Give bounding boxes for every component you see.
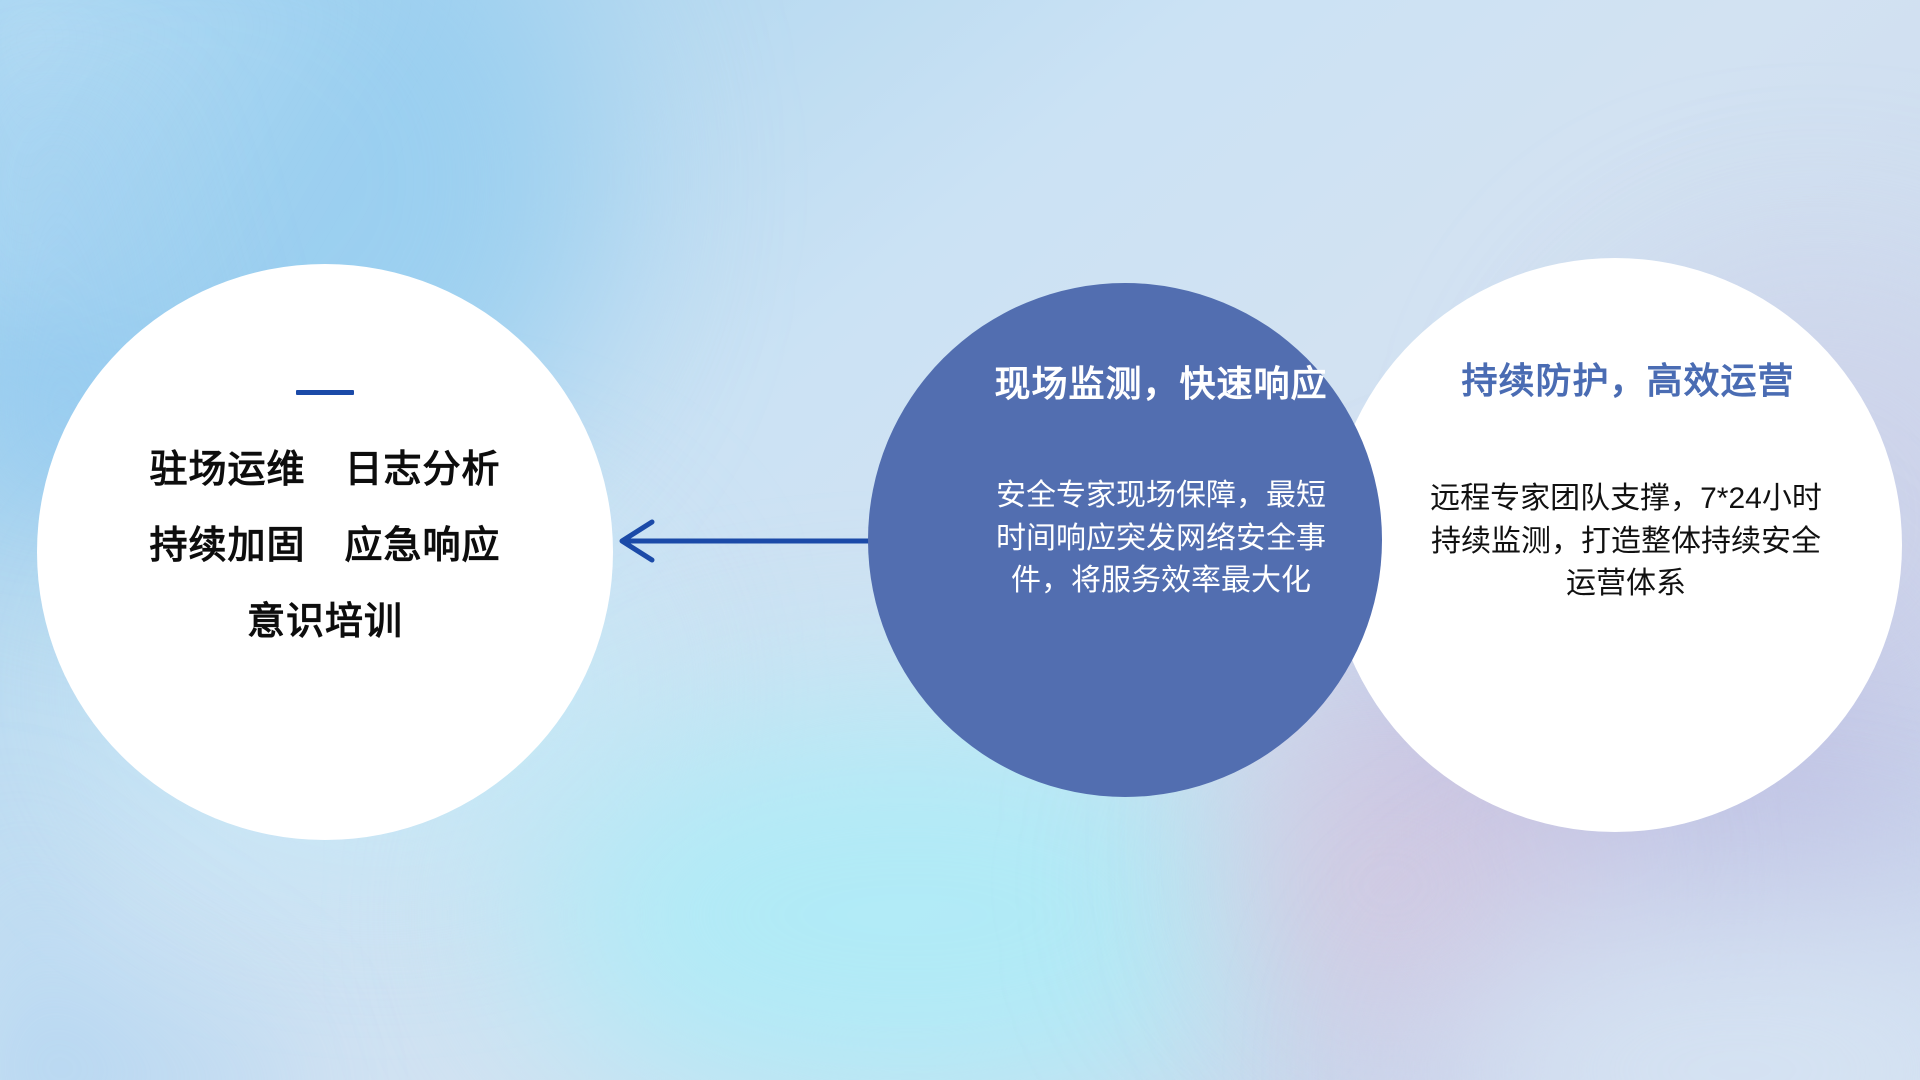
continuous-operations-body: 远程专家团队支撑，7*24小时持续监测，打造整体持续安全运营体系 [1421, 478, 1831, 606]
connector-arrow-left [600, 516, 900, 566]
capability-row-2: 持续加固 应急响应 [149, 527, 500, 565]
capabilities-circle[interactable]: 驻场运维 日志分析 持续加固 应急响应 意识培训 [37, 264, 613, 840]
capability-row-3: 意识培训 [247, 603, 403, 641]
onsite-response-title: 现场监测，快速响应 [994, 355, 1327, 407]
onsite-response-content: 现场监测，快速响应 安全专家现场保障，最短时间响应突发网络安全事件，将服务效率最… [868, 283, 1382, 797]
slide-canvas: 驻场运维 日志分析 持续加固 应急响应 意识培训 持续防护，高效运营 远程专家团… [0, 0, 1920, 1080]
continuous-operations-title: 持续防护，高效运营 [1461, 352, 1794, 404]
capabilities-content: 驻场运维 日志分析 持续加固 应急响应 意识培训 [37, 264, 613, 840]
capability-row-1: 驻场运维 日志分析 [149, 451, 500, 489]
onsite-response-body: 安全专家现场保障，最短时间响应突发网络安全事件，将服务效率最大化 [996, 475, 1326, 603]
light-blob-bottom-right [1420, 880, 1920, 1080]
continuous-operations-content: 持续防护，高效运营 远程专家团队支撑，7*24小时持续监测，打造整体持续安全运营… [1328, 258, 1902, 832]
arrow-left-icon [600, 516, 900, 566]
continuous-operations-circle[interactable]: 持续防护，高效运营 远程专家团队支撑，7*24小时持续监测，打造整体持续安全运营… [1328, 258, 1902, 832]
divider-rule [296, 390, 354, 395]
